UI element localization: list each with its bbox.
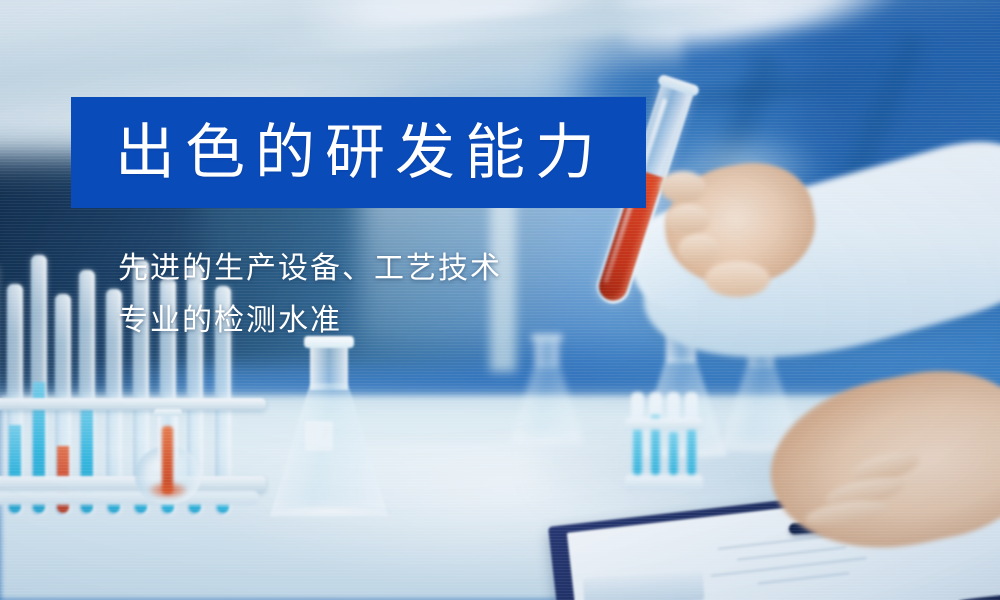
rack-bar-bottom (625, 475, 703, 490)
flask-label (305, 421, 333, 451)
small-test-tube-rack (625, 380, 703, 492)
flask-base (507, 438, 587, 447)
hero-banner: 出色的研发能力 先进的生产设备、工艺技术 专业的检测水准 (0, 0, 1000, 600)
subtitle-block: 先进的生产设备、工艺技术 专业的检测水准 (118, 243, 678, 347)
flask-base (265, 504, 392, 519)
test-tube (685, 392, 698, 478)
test-tube (667, 392, 680, 478)
rack-bar-bottom (0, 476, 266, 492)
subtitle-line-1: 先进的生产设备、工艺技术 (118, 243, 678, 295)
rack-foot (0, 491, 259, 505)
erlenmeyer-flask (510, 340, 584, 444)
erlenmeyer-flask (270, 346, 388, 516)
thumb (705, 261, 770, 297)
test-tube (631, 392, 644, 478)
test-tube (649, 392, 662, 478)
page-title: 出色的研发能力 (71, 123, 605, 183)
subtitle-line-2: 专业的检测水准 (118, 295, 678, 347)
flask-lip (154, 409, 182, 416)
flask-orange-pool (149, 482, 187, 498)
rack-bar-top (625, 418, 703, 430)
rack-bar-top (0, 398, 266, 410)
finger (666, 204, 710, 235)
title-banner-box: 出色的研发能力 (71, 97, 646, 208)
round-bottom-flask (135, 412, 201, 504)
flask-body (510, 363, 584, 444)
finger (678, 234, 720, 264)
flask-neck (310, 343, 348, 391)
